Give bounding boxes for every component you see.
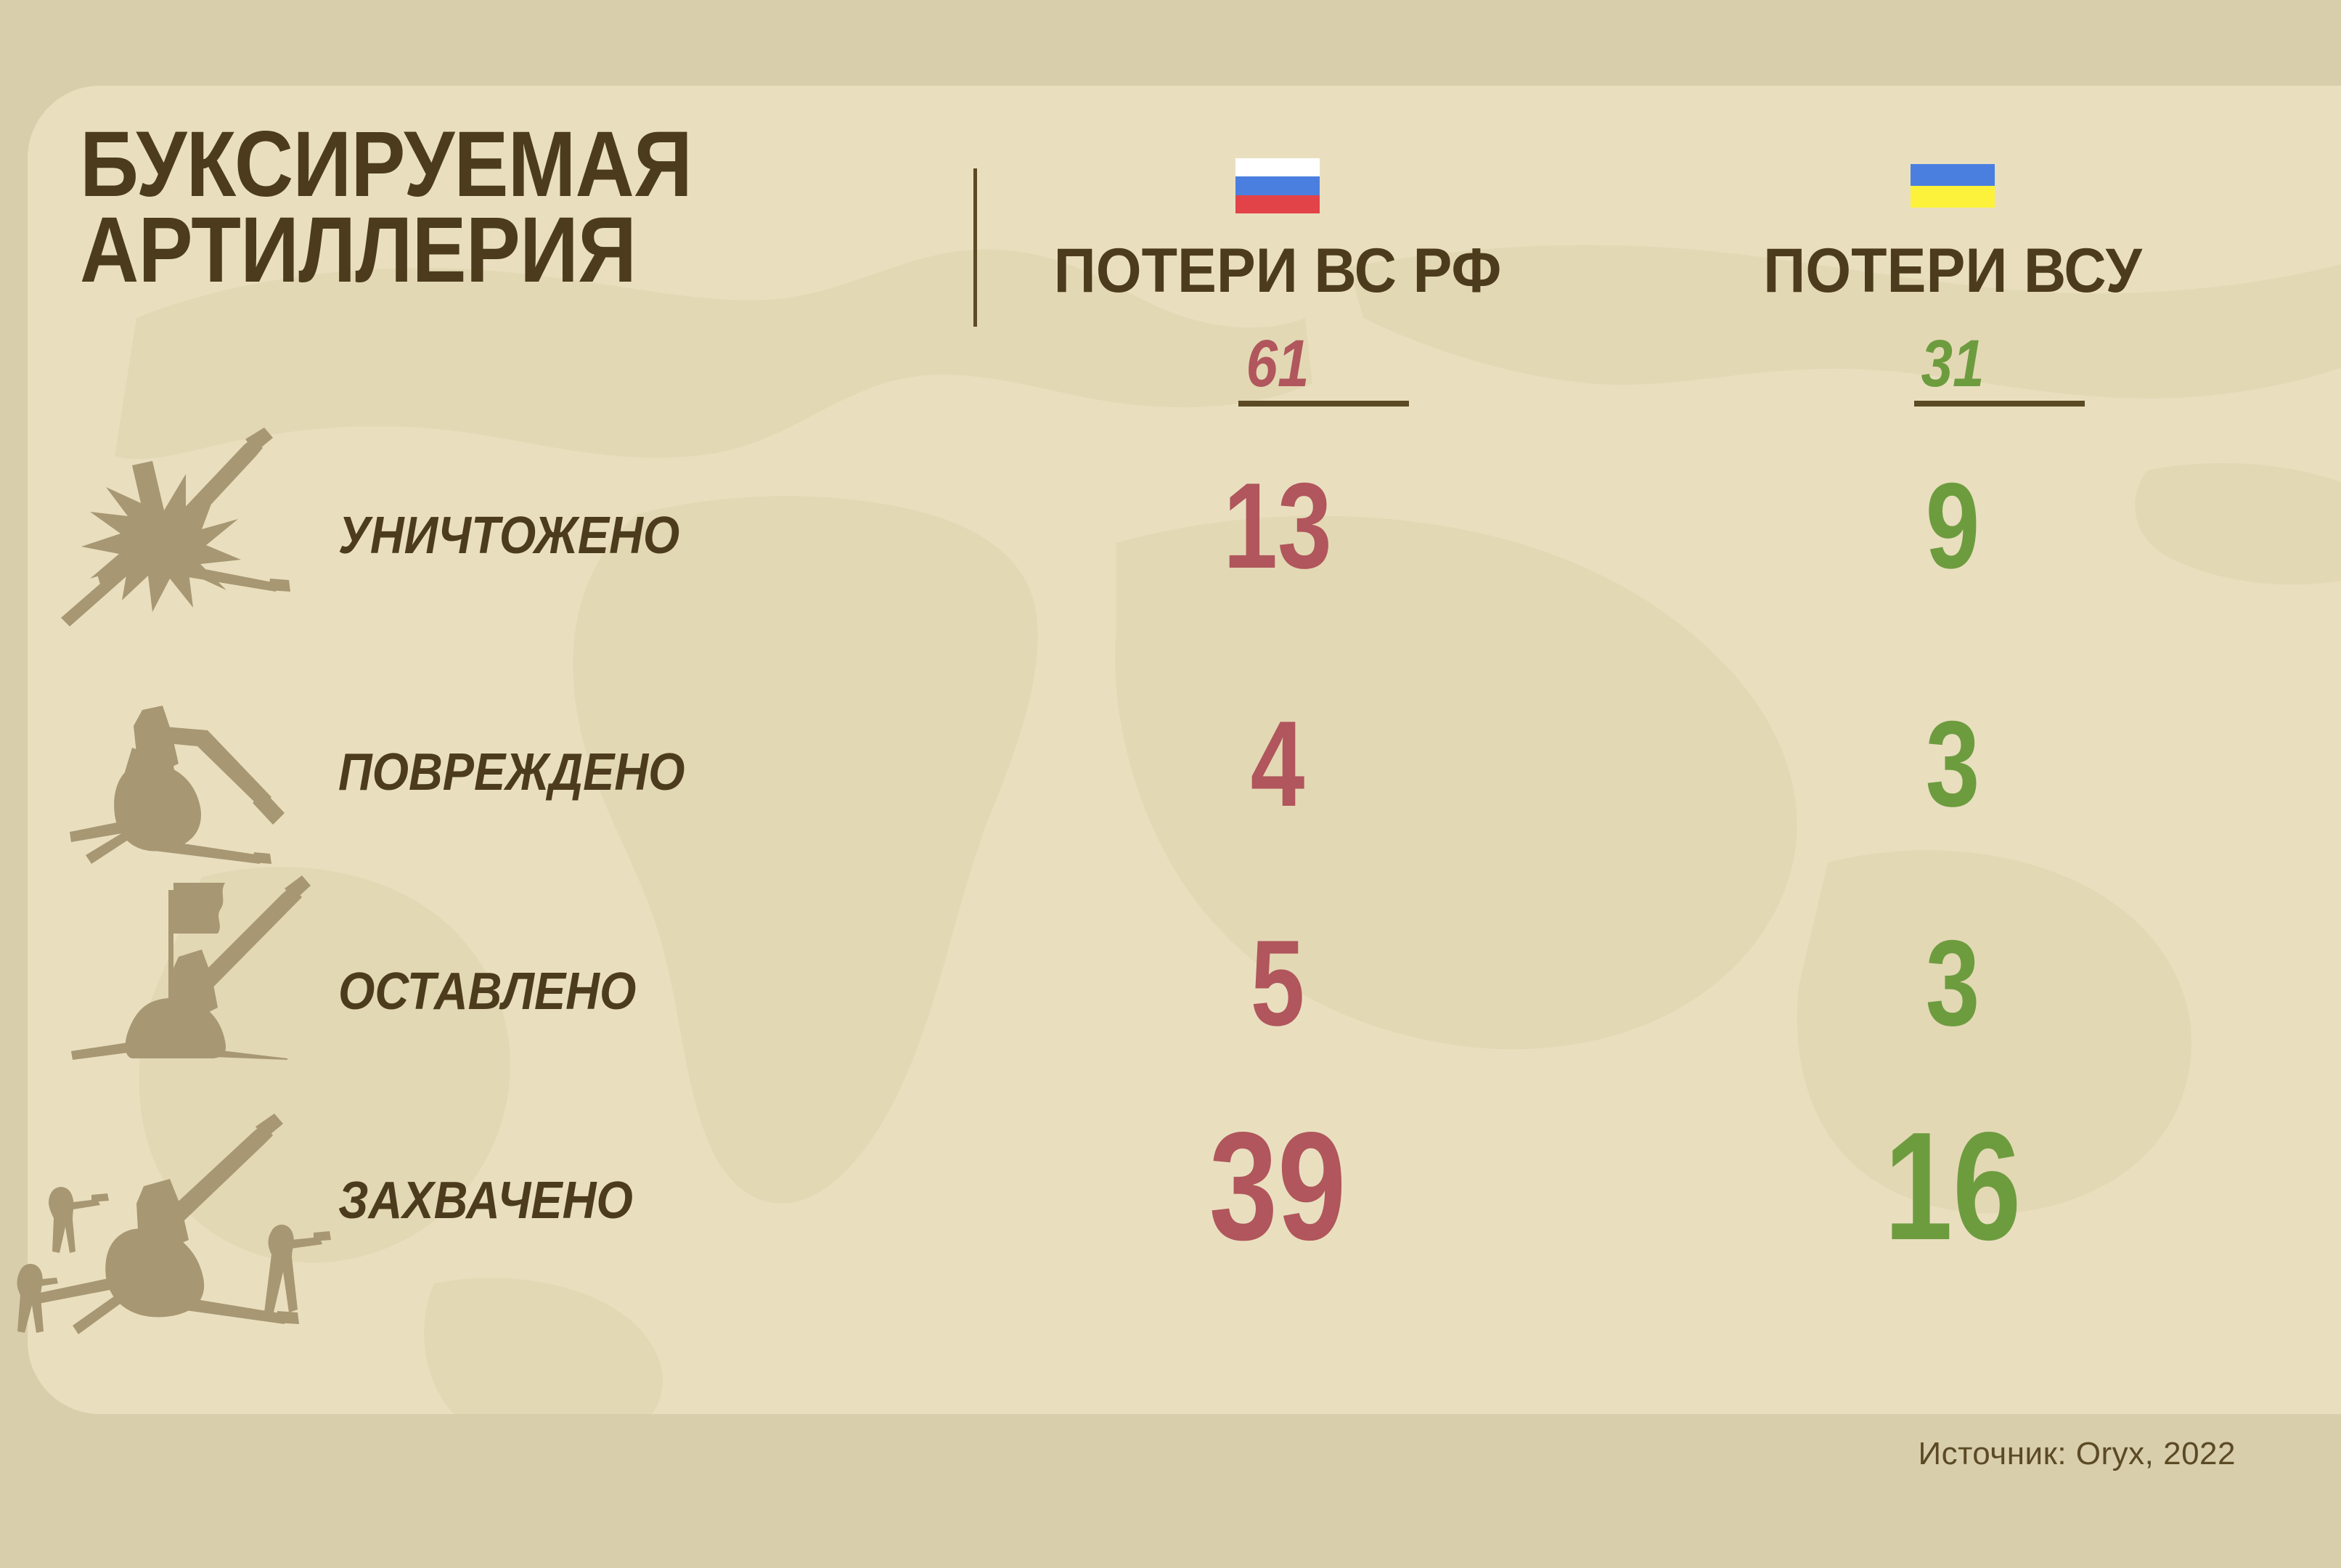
row-label-damaged: ПОВРЕЖДЕНО <box>338 746 685 799</box>
source-credit: Источник: Oryx, 2022 <box>1919 1436 2236 1472</box>
value-damaged-ukraine: 3 <box>1723 703 2182 825</box>
total-russia-underline <box>1238 401 1409 407</box>
value-damaged-russia: 4 <box>1048 703 1507 825</box>
page-title: БУКСИРУЕМАЯ АРТИЛЛЕРИЯ <box>80 122 833 293</box>
total-russia: 61 <box>1034 330 1521 397</box>
column-header-ukraine: ПОТЕРИ ВСУ <box>1666 240 2239 302</box>
title-divider <box>973 168 977 327</box>
value-captured-russia: 39 <box>1048 1109 1507 1263</box>
total-ukraine: 31 <box>1709 330 2197 397</box>
row-label-destroyed: УНИЧТОЖЕНО <box>338 510 679 562</box>
value-captured-ukraine: 16 <box>1723 1109 2182 1263</box>
value-destroyed-russia: 13 <box>1048 465 1507 587</box>
value-abandoned-ukraine: 3 <box>1723 922 2182 1044</box>
column-header-russia-label: ПОТЕРИ ВС РФ <box>1008 240 1548 302</box>
value-destroyed-ukraine: 9 <box>1723 465 2182 587</box>
total-ukraine-underline <box>1914 401 2085 407</box>
row-label-abandoned: ОСТАВЛЕНО <box>338 965 636 1018</box>
infographic-root: БУКСИРУЕМАЯ АРТИЛЛЕРИЯ ПОТЕРИ ВС РФ ПОТЕ… <box>0 0 2341 1568</box>
row-label-captured: ЗАХВАЧЕНО <box>338 1175 633 1227</box>
value-abandoned-russia: 5 <box>1048 922 1507 1044</box>
column-header-russia: ПОТЕРИ ВС РФ <box>991 240 1564 302</box>
column-header-ukraine-label: ПОТЕРИ ВСУ <box>1683 240 2223 302</box>
flag-russia-icon <box>1235 158 1320 213</box>
flag-ukraine-icon <box>1911 164 1995 208</box>
